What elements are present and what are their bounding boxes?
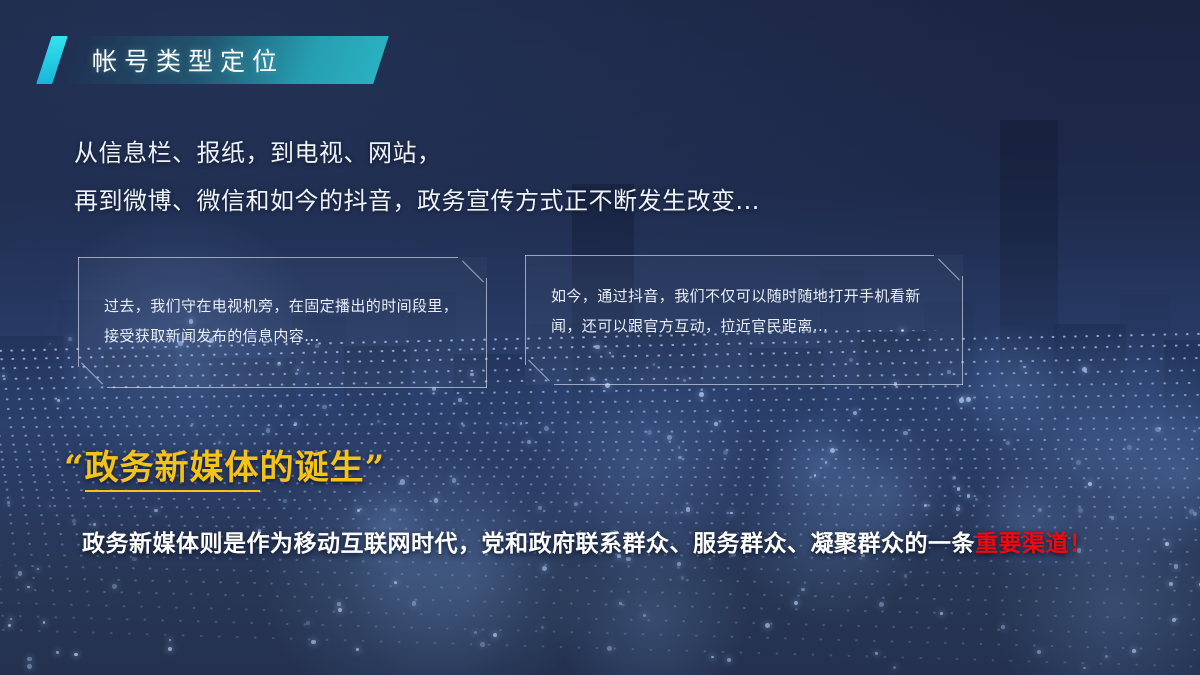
sparkle-dot <box>462 424 465 427</box>
sparkle-dot <box>1127 445 1132 450</box>
intro-paragraph: 从信息栏、报纸，到电视、网站， 再到微博、微信和如今的抖音，政务宣传方式正不断发… <box>74 136 974 232</box>
sparkle-dot <box>434 498 438 502</box>
sparkle-dot <box>337 602 341 606</box>
sparkle-dot <box>49 505 51 507</box>
sparkle-dot <box>27 586 29 588</box>
box-edge-top <box>78 257 458 258</box>
sparkle-dot <box>112 584 117 589</box>
sparkle-dot <box>538 506 542 510</box>
sparkle-dot <box>678 456 681 459</box>
sparkle-dot <box>830 448 835 453</box>
summary-text: 政务新媒体则是作为移动互联网时代，党和政府联系群众、服务群众、凝聚群众的一条 <box>82 530 975 557</box>
section-heading: “政务新媒体的诞生” <box>64 440 385 489</box>
callout-text-now: 如今，通过抖音，我们不仅可以随时随地打开手机看新闻，还可以跟官方互动，拉近官民距… <box>551 281 941 341</box>
sparkle-dot <box>154 509 158 513</box>
sparkle-dot <box>940 612 943 615</box>
page-title: 帐号类型定位 <box>92 42 284 78</box>
sparkle-dot <box>677 562 680 565</box>
sparkle-dot <box>357 509 360 512</box>
sparkle-dot <box>1006 441 1010 445</box>
sparkle-dot <box>27 664 32 669</box>
sparkle-dot <box>322 405 326 409</box>
sparkle-dot <box>903 431 908 436</box>
sparkle-dot <box>699 392 704 397</box>
intro-line-1: 从信息栏、报纸，到电视、网站， <box>74 136 974 170</box>
callout-box-now: 如今，通过抖音，我们不仅可以随时随地打开手机看新闻，还可以跟官方互动，拉近官民距… <box>525 255 963 385</box>
sparkle-dot <box>959 398 964 403</box>
sparkle-dot <box>2 375 4 377</box>
sparkle-dot <box>18 571 22 575</box>
sparkle-dot <box>74 653 77 656</box>
sparkle-dot <box>480 642 484 646</box>
sparkle-dot <box>542 566 547 571</box>
sparkle-dot <box>1082 367 1087 372</box>
sparkle-dot <box>72 519 75 522</box>
sparkle-dot <box>505 423 508 426</box>
sparkle-dot <box>27 657 31 661</box>
sparkle-dot <box>956 507 960 511</box>
sparkle-dot <box>412 601 416 605</box>
header-banner: 帐号类型定位 <box>44 36 381 84</box>
intro-line-2: 再到微博、微信和如今的抖音，政务宣传方式正不断发生改变... <box>74 184 974 218</box>
sparkle-dot <box>1132 649 1136 653</box>
box-edge-left <box>78 257 79 367</box>
sparkle-dot <box>56 651 59 654</box>
sparkle-dot <box>168 647 172 651</box>
heading-underlined: 政务新媒体 <box>85 448 260 492</box>
box-edge-top <box>525 255 934 256</box>
heading-quote-close: ” <box>365 448 386 488</box>
slide-canvas: 帐号类型定位 从信息栏、报纸，到电视、网站， 再到微博、微信和如今的抖音，政务宣… <box>0 0 1200 675</box>
summary-highlight: 重要渠道！ <box>975 530 1093 557</box>
summary-sentence: 政务新媒体则是作为移动互联网时代，党和政府联系群众、服务群众、凝聚群众的一条重要… <box>82 524 1142 558</box>
sparkle-dot <box>893 666 896 669</box>
sparkle-dot <box>393 508 396 511</box>
sparkle-dot <box>957 487 960 490</box>
sparkle-dot <box>458 398 462 402</box>
sparkle-dot <box>727 658 731 662</box>
sparkle-dot <box>294 422 297 425</box>
sparkle-dot <box>37 568 39 570</box>
heading-tail: 的诞生 <box>260 448 365 488</box>
box-edge-left <box>525 255 526 365</box>
sparkle-dot <box>49 343 51 345</box>
sparkle-dot <box>875 652 877 654</box>
box-bevel-bottom-left <box>528 360 550 382</box>
callout-text-past: 过去，我们守在电视机旁，在固定播出的时间段里，接受获取新闻发布的信息内容... <box>104 291 465 351</box>
sparkle-dot <box>667 435 672 440</box>
box-edge-bottom <box>107 387 487 388</box>
sparkle-dot <box>1172 618 1176 622</box>
sparkle-dot <box>520 422 522 424</box>
sparkle-dot <box>1038 508 1042 512</box>
sparkle-dot <box>574 502 578 506</box>
heading-quote-open: “ <box>64 448 85 488</box>
background-glow <box>951 324 1071 444</box>
sparkle-dot <box>191 423 193 425</box>
box-edge-bottom <box>554 384 963 385</box>
sparkle-dot <box>619 602 621 604</box>
callout-box-past: 过去，我们守在电视机旁，在固定播出的时间段里，接受获取新闻发布的信息内容... <box>78 257 487 388</box>
sparkle-dot <box>169 639 171 641</box>
sparkle-dot <box>43 621 45 623</box>
sparkle-dot <box>8 624 11 627</box>
sparkle-dot <box>686 507 691 512</box>
sparkle-dot <box>765 623 770 628</box>
sparkle-dot <box>400 479 405 484</box>
sparkle-dot <box>730 512 732 514</box>
sparkle-dot <box>904 574 907 577</box>
sparkle-dot <box>311 640 315 644</box>
sparkle-dot <box>377 420 380 423</box>
sparkle-dot <box>1001 625 1005 629</box>
sparkle-dot <box>924 504 927 507</box>
sparkle-dot <box>879 602 884 607</box>
sparkle-dot <box>527 440 531 444</box>
sparkle-dot <box>949 458 951 460</box>
sparkle-dot <box>266 428 270 432</box>
sparkle-dot <box>7 501 10 504</box>
sparkle-dot <box>801 588 805 592</box>
sparkle-dot <box>1111 516 1115 520</box>
sparkle-dot <box>1076 460 1081 465</box>
sparkle-dot <box>1193 430 1195 432</box>
sparkle-dot <box>10 618 12 620</box>
sparkle-dot <box>1155 427 1160 432</box>
sparkle-dot <box>607 646 612 651</box>
box-edge-right <box>486 278 487 388</box>
sparkle-dot <box>853 411 857 415</box>
box-bevel-bottom-left <box>81 363 103 385</box>
sparkle-dot <box>967 494 971 498</box>
sparkle-dot <box>1023 366 1025 368</box>
background-glow <box>763 406 878 521</box>
box-bevel-top-right <box>938 259 960 281</box>
sparkle-dot <box>1037 650 1041 654</box>
sparkle-dot <box>952 476 956 480</box>
banner-shape: 帐号类型定位 <box>62 36 389 84</box>
box-bevel-top-right <box>462 261 484 283</box>
box-edge-right <box>962 276 963 385</box>
sparkle-dot <box>452 478 456 482</box>
sparkle-dot <box>966 397 971 402</box>
